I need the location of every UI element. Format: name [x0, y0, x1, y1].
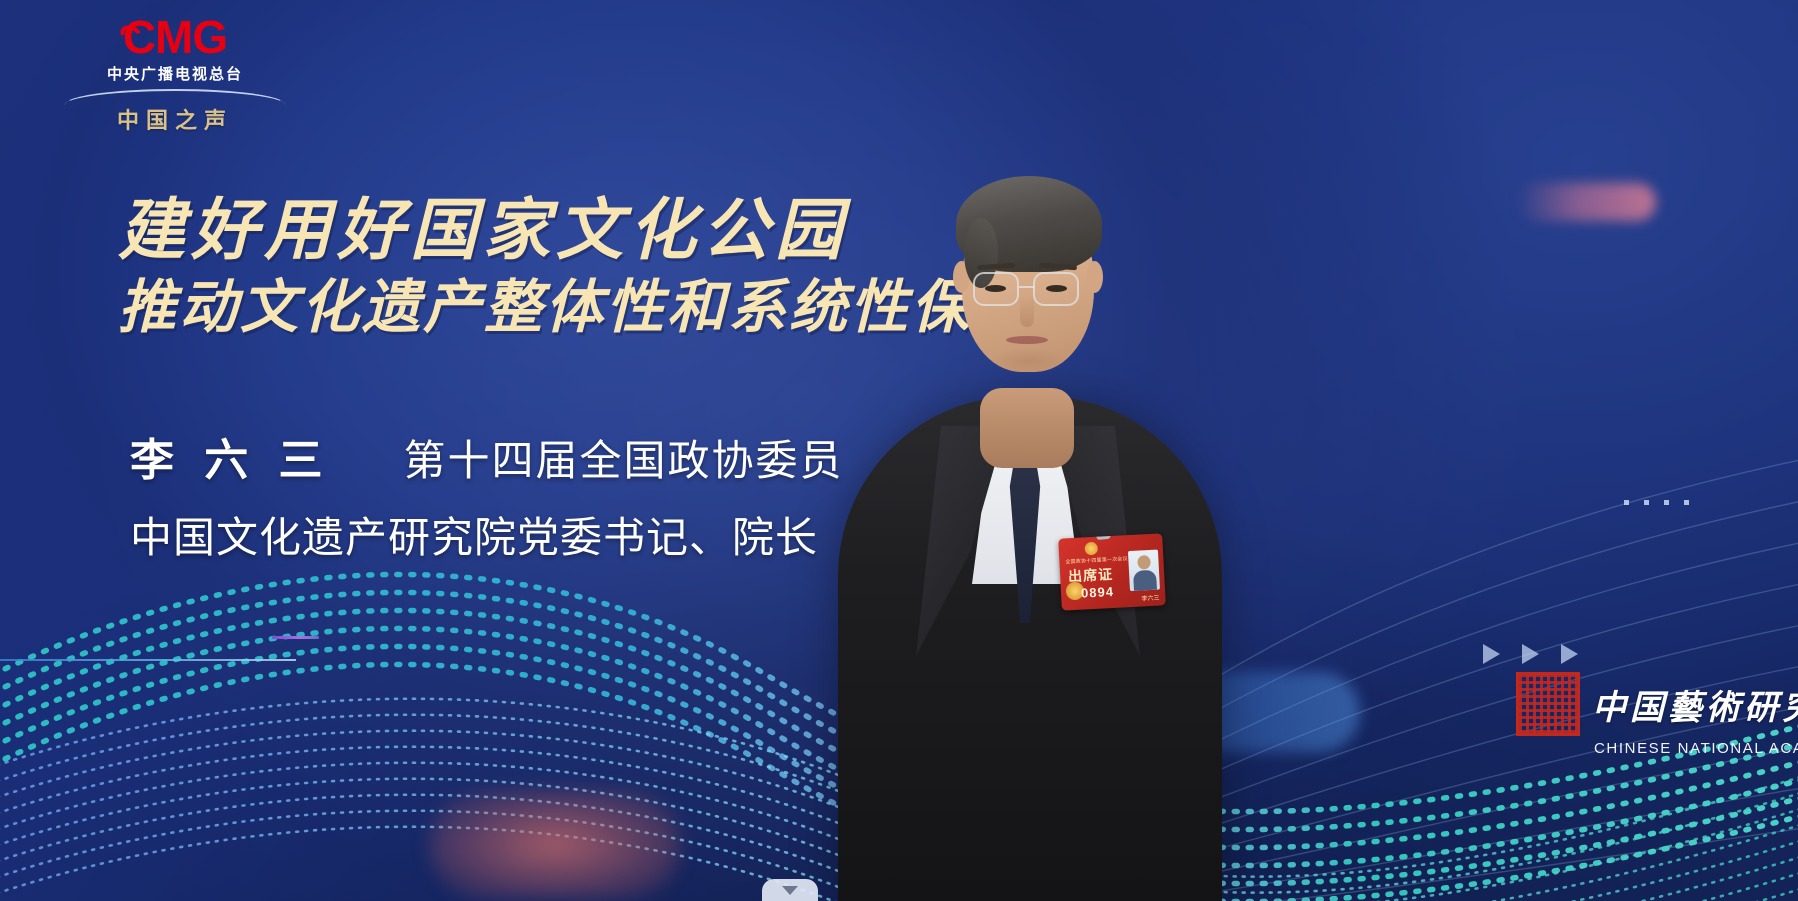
- badge-signature: 李六三: [1141, 593, 1159, 603]
- cmg-organization-label: 中央广播电视总台: [60, 63, 290, 84]
- portrait-eyeglass-bridge: [1019, 286, 1035, 288]
- portrait-mouth: [1006, 336, 1048, 344]
- broadcast-lower-third-frame: CMG 中央广播电视总台 中国之声 建好用好国家文化公园 推动文化遗产整体性和系…: [0, 0, 1798, 901]
- speaker-name: 李 六 三: [130, 424, 331, 488]
- speaker-organization: 中国文化遗产研究院党委书记、院长: [130, 504, 920, 565]
- red-seal-icon: [1516, 672, 1580, 736]
- partner-name-cn: 中国藝術研究院: [1592, 680, 1798, 729]
- play-triangle-icon: [1483, 644, 1578, 664]
- dot-row-icon: [1624, 500, 1689, 505]
- partner-logo-row: 中国藝術研究院: [1516, 672, 1776, 736]
- cyan-divider-line: [0, 659, 296, 661]
- cmg-swoosh-icon: [118, 22, 145, 46]
- badge-number: 0894: [1081, 584, 1115, 601]
- speaker-portrait: 全国政协十四届第一次会议 出席证 0894 李六三: [820, 96, 1240, 901]
- id-portrait-icon: [1128, 550, 1160, 592]
- speaker-name-row: 李 六 三 第十四届全国政协委员: [130, 424, 920, 488]
- partner-logo: 中国藝術研究院 CHINESE NATIONAL ACADEMY OF ARTS: [1516, 672, 1776, 757]
- chevron-down-icon[interactable]: [762, 879, 818, 901]
- portrait-ear-right: [1086, 261, 1103, 293]
- portrait-nose: [1020, 295, 1034, 327]
- conference-badge: 全国政协十四届第一次会议 出席证 0894 李六三: [1058, 533, 1166, 610]
- cmg-wordmark: CMG: [123, 14, 227, 60]
- portrait-hair: [956, 176, 1102, 272]
- cppcc-emblem-icon: [1084, 542, 1098, 556]
- portrait-eyeglass-right: [1033, 272, 1079, 306]
- pink-glow-bar: [1516, 183, 1656, 221]
- cmg-logo: CMG 中央广播电视总台 中国之声: [60, 14, 290, 135]
- portrait-eyeglass-left: [973, 272, 1019, 306]
- portrait-neck: [980, 388, 1074, 468]
- partner-name-en: CHINESE NATIONAL ACADEMY OF ARTS: [1594, 740, 1776, 757]
- portrait-chin-shadow: [990, 348, 1066, 374]
- speaker-role: 第十四届全国政协委员: [403, 427, 843, 488]
- speaker-block: 李 六 三 第十四届全国政协委员 中国文化遗产研究院党委书记、院长: [130, 424, 920, 565]
- cmg-channel-label: 中国之声: [60, 103, 290, 135]
- red-glow-blob: [430, 790, 680, 900]
- purple-dash-accent: [272, 636, 319, 639]
